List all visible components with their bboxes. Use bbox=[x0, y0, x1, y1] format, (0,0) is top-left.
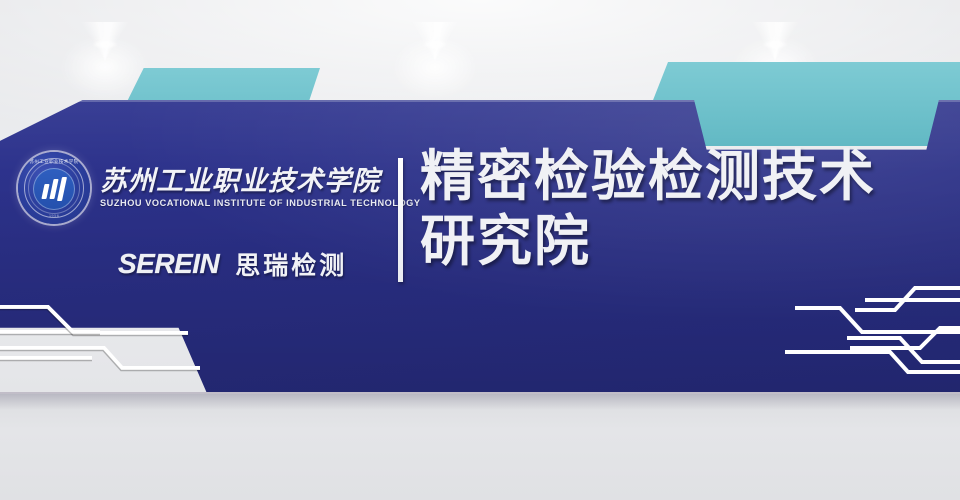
title-line-2: 研究院 bbox=[420, 209, 950, 274]
page-title: 精密检验检测技术 研究院 bbox=[420, 144, 950, 274]
panel-drop-shadow bbox=[0, 394, 960, 410]
serein-wordmark: SEREIN bbox=[118, 248, 219, 280]
school-name-en: SUZHOU VOCATIONAL INSTITUTE OF INDUSTRIA… bbox=[100, 198, 421, 208]
serein-name-cn: 思瑞检测 bbox=[235, 246, 347, 282]
institution-branding: 苏州工业职业技术学院 1956 苏州工业职业技术学院 SUZHOU VOCATI… bbox=[18, 152, 386, 282]
school-name-block: 苏州工业职业技术学院 SUZHOU VOCATIONAL INSTITUTE O… bbox=[100, 168, 421, 208]
emblem-arc-text-bottom: 1956 bbox=[18, 214, 90, 218]
school-emblem-icon: 苏州工业职业技术学院 1956 bbox=[18, 152, 90, 224]
school-identity-row: 苏州工业职业技术学院 1956 苏州工业职业技术学院 SUZHOU VOCATI… bbox=[18, 152, 386, 224]
signage-scene: 苏州工业职业技术学院 1956 苏州工业职业技术学院 SUZHOU VOCATI… bbox=[0, 0, 960, 500]
emblem-arc-text-top: 苏州工业职业技术学院 bbox=[18, 159, 90, 165]
school-name-cn: 苏州工业职业技术学院 bbox=[100, 168, 421, 196]
floor bbox=[0, 392, 960, 500]
title-line-1: 精密检验检测技术 bbox=[420, 144, 950, 209]
title-divider-bar bbox=[398, 158, 403, 282]
partner-branding-row: SEREIN 思瑞检测 bbox=[118, 246, 386, 282]
panel-content: 苏州工业职业技术学院 1956 苏州工业职业技术学院 SUZHOU VOCATI… bbox=[0, 100, 960, 392]
